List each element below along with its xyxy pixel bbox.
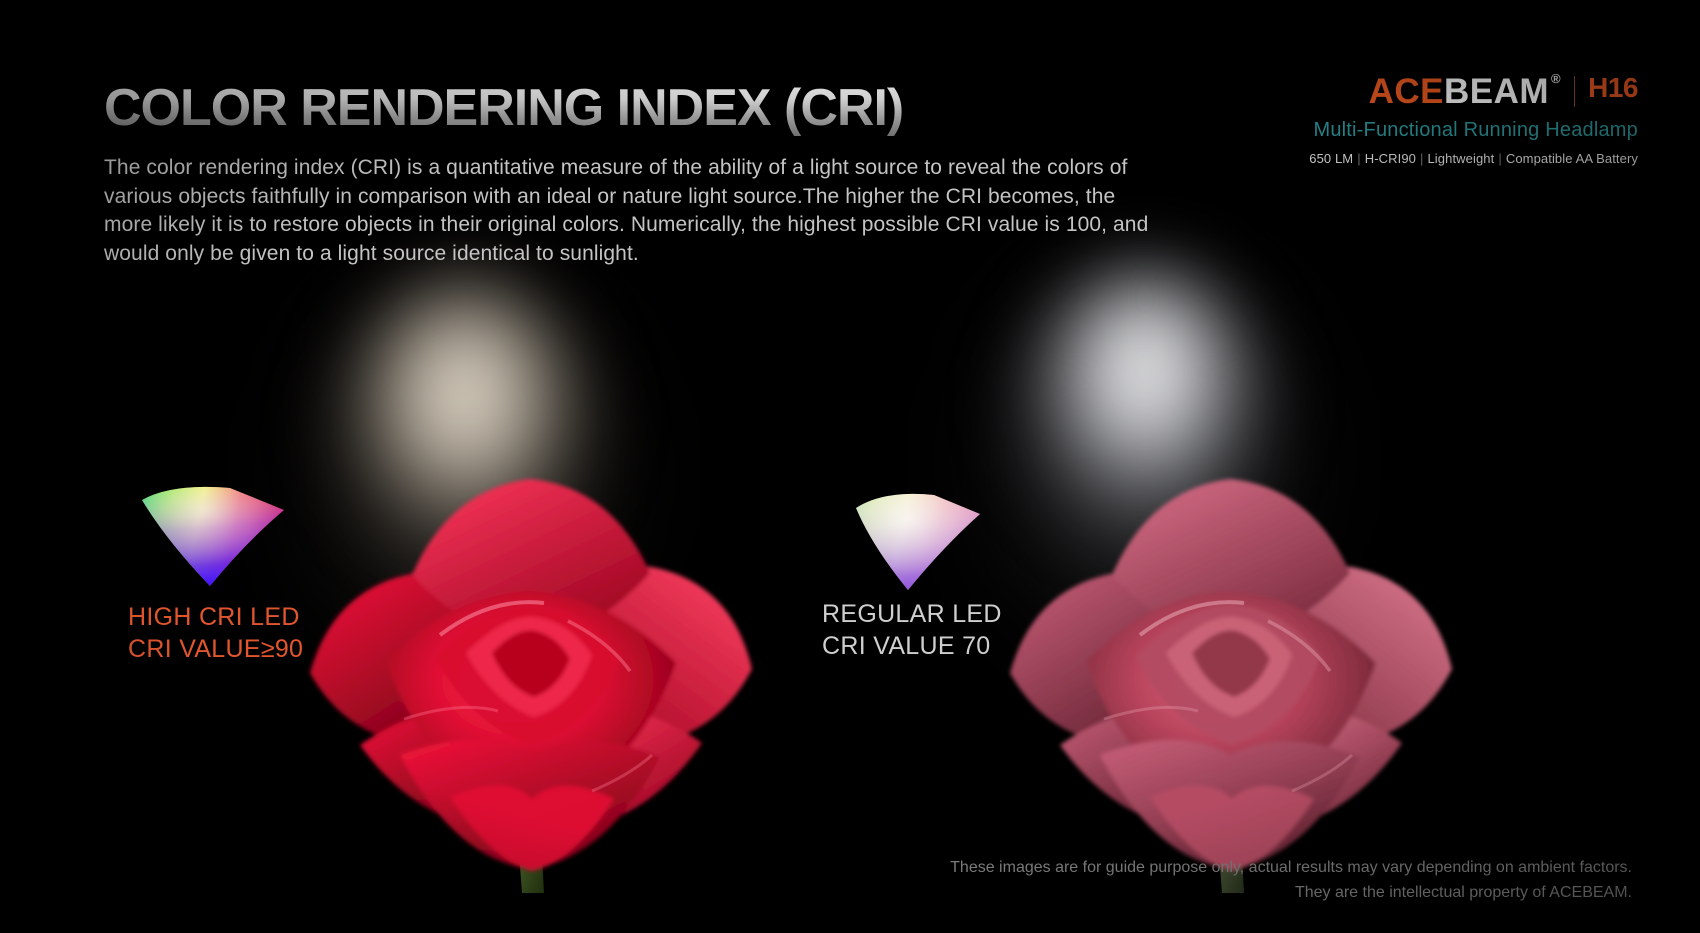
logo-text-beam: BEAM [1444, 74, 1549, 109]
intro-paragraph: The color rendering index (CRI) is a qua… [104, 154, 1164, 268]
disclaimer-text: These images are for guide purpose only,… [950, 855, 1632, 905]
caption-high-cri-line1: HIGH CRI LED [128, 601, 303, 633]
brand-logo-row: ACEBEAM® H16 [1278, 74, 1638, 109]
gamut-triangle-regular-cri [838, 484, 988, 594]
product-model-name: H16 [1588, 74, 1638, 102]
rose-image-regular-led [1000, 455, 1460, 895]
gamut-triangle-high-cri [138, 478, 288, 588]
infographic-canvas: COLOR RENDERING INDEX (CRI) The color re… [0, 0, 1700, 933]
caption-regular-led-line1: REGULAR LED [822, 598, 1002, 630]
acebeam-logo: ACEBEAM® [1369, 74, 1562, 109]
spec-separator: | [1498, 151, 1501, 166]
product-spec-list: 650 LM|H-CRI90|Lightweight|Compatible AA… [1278, 151, 1638, 166]
caption-regular-led-line2: CRI VALUE 70 [822, 630, 1002, 662]
brand-block: ACEBEAM® H16 Multi-Functional Running He… [1278, 74, 1638, 166]
spec-lumens: 650 LM [1309, 151, 1353, 166]
spec-separator: | [1420, 151, 1423, 166]
spec-weight: Lightweight [1427, 151, 1494, 166]
header-section: COLOR RENDERING INDEX (CRI) The color re… [0, 0, 1700, 260]
rose-image-high-cri [300, 455, 760, 895]
page-title: COLOR RENDERING INDEX (CRI) [104, 78, 903, 138]
caption-high-cri-line2: CRI VALUE≥90 [128, 633, 303, 665]
spec-separator: | [1357, 151, 1360, 166]
logo-text-ace: ACE [1369, 74, 1444, 109]
spec-battery: Compatible AA Battery [1506, 151, 1638, 166]
brand-divider [1574, 76, 1575, 107]
spec-cri: H-CRI90 [1365, 151, 1416, 166]
caption-regular-led: REGULAR LED CRI VALUE 70 [822, 598, 1002, 662]
disclaimer-line2: They are the intellectual property of AC… [950, 880, 1632, 905]
caption-high-cri: HIGH CRI LED CRI VALUE≥90 [128, 601, 303, 665]
product-tagline: Multi-Functional Running Headlamp [1278, 119, 1638, 142]
registered-trademark-icon: ® [1551, 72, 1561, 85]
disclaimer-line1: These images are for guide purpose only,… [950, 855, 1632, 880]
